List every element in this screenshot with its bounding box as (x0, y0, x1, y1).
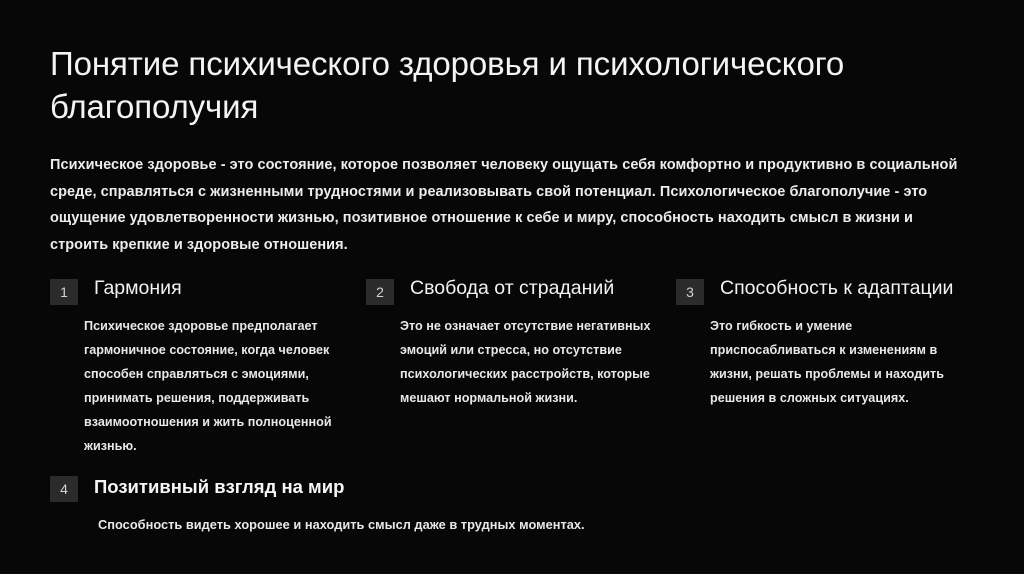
card-item-1: 1 Гармония Психическое здоровье предпола… (50, 276, 350, 458)
slide-root: Понятие психического здоровья и психолог… (0, 0, 1024, 574)
card-title: Позитивный взгляд на мир (94, 473, 344, 501)
intro-paragraph: Психическое здоровье - это состояние, ко… (50, 152, 972, 258)
card-item-4: 4 Позитивный взгляд на мир Способность в… (50, 474, 750, 536)
card-title: Гармония (94, 274, 182, 302)
page-title: Понятие психического здоровья и психолог… (50, 42, 950, 128)
card-title: Свобода от страданий (410, 274, 614, 302)
card-header: 4 Позитивный взгляд на мир (50, 474, 750, 504)
card-body-text: Способность видеть хорошее и находить см… (98, 514, 738, 536)
card-title: Способность к адаптации (720, 274, 953, 302)
card-body-text: Психическое здоровье предполагает гармон… (84, 314, 350, 458)
card-item-2: 2 Свобода от страданий Это не означает о… (366, 276, 666, 410)
card-header: 1 Гармония (50, 276, 350, 306)
card-body-text: Это гибкость и умение приспосабливаться … (710, 314, 976, 410)
card-number-badge: 1 (50, 279, 78, 305)
card-header: 3 Способность к адаптации (676, 276, 976, 306)
card-item-3: 3 Способность к адаптации Это гибкость и… (676, 276, 976, 410)
card-number-badge: 2 (366, 279, 394, 305)
card-number-badge: 3 (676, 279, 704, 305)
card-header: 2 Свобода от страданий (366, 276, 666, 306)
card-number-badge: 4 (50, 476, 78, 502)
card-body-text: Это не означает отсутствие негативных эм… (400, 314, 666, 410)
